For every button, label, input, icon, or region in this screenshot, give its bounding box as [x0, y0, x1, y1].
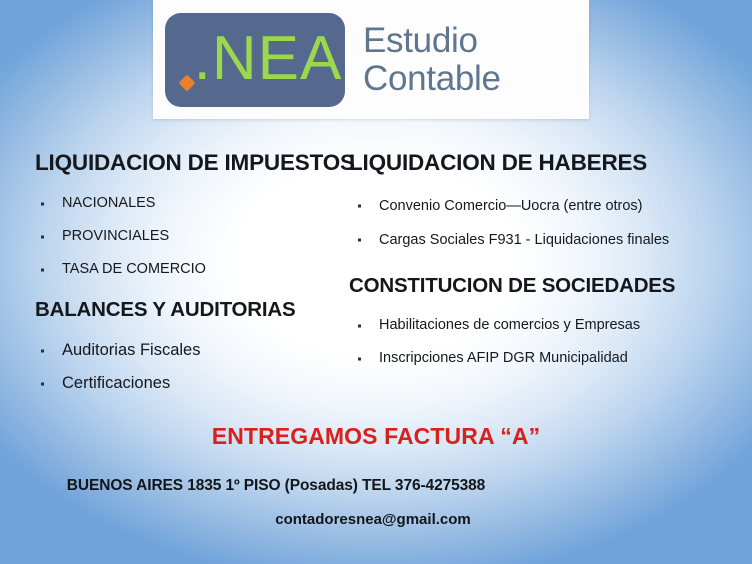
list-item-label: Convenio Comercio—Uocra (entre otros)	[379, 189, 643, 223]
list-item: NACIONALES	[30, 187, 350, 220]
list-item: Habilitaciones de comercios y Empresas	[349, 309, 739, 342]
bullet-square-icon	[358, 205, 361, 208]
list-item-label: Inscripciones AFIP DGR Municipalidad	[379, 342, 628, 375]
list-item-label: PROVINCIALES	[62, 220, 169, 253]
bullet-square-icon	[41, 382, 44, 385]
logo-word-line-1: Estudio	[363, 22, 501, 60]
list-item-label: NACIONALES	[62, 187, 155, 220]
bullet-square-icon	[358, 324, 361, 327]
section-title: LIQUIDACION DE IMPUESTOS	[35, 150, 350, 176]
list-item: Certificaciones	[30, 367, 350, 400]
poster-canvas: .NEA Estudio Contable LIQUIDACION DE IMP…	[0, 0, 752, 564]
section-title: LIQUIDACION DE HABERES	[349, 150, 739, 176]
list-item: TASA DE COMERCIO	[30, 253, 350, 286]
section-liquidacion-impuestos: LIQUIDACION DE IMPUESTOS NACIONALES PROV…	[30, 150, 350, 286]
list-item-label: Habilitaciones de comercios y Empresas	[379, 309, 640, 342]
list-item: Auditorias Fiscales	[30, 334, 350, 367]
list-item-label: TASA DE COMERCIO	[62, 253, 206, 286]
bullet-square-icon	[41, 268, 44, 271]
bullet-square-icon	[41, 349, 44, 352]
section-constitucion-sociedades: CONSTITUCION DE SOCIEDADES Habilitacione…	[349, 274, 739, 375]
list-item-label: Auditorias Fiscales	[62, 334, 200, 367]
bullet-list: Convenio Comercio—Uocra (entre otros) Ca…	[349, 189, 739, 257]
logo-word-line-2: Contable	[363, 60, 501, 98]
list-item: Inscripciones AFIP DGR Municipalidad	[349, 342, 739, 375]
bullet-list: Habilitaciones de comercios y Empresas I…	[349, 309, 739, 375]
right-column: LIQUIDACION DE HABERES Convenio Comercio…	[349, 150, 739, 375]
bullet-list: NACIONALES PROVINCIALES TASA DE COMERCIO	[30, 187, 350, 286]
list-item-label: Cargas Sociales F931 - Liquidaciones fin…	[379, 223, 669, 257]
bullet-square-icon	[358, 239, 361, 242]
logo-card: .NEA Estudio Contable	[153, 0, 589, 119]
section-title: CONSTITUCION DE SOCIEDADES	[349, 274, 739, 298]
bullet-square-icon	[41, 202, 44, 205]
email-address[interactable]: contadoresnea@gmail.com	[0, 511, 752, 528]
bullet-square-icon	[41, 235, 44, 238]
section-liquidacion-haberes: LIQUIDACION DE HABERES Convenio Comercio…	[349, 150, 739, 257]
section-balances-auditorias: BALANCES Y AUDITORIAS Auditorias Fiscale…	[30, 298, 350, 400]
left-column: LIQUIDACION DE IMPUESTOS NACIONALES PROV…	[30, 150, 350, 400]
address-line: BUENOS AIRES 1835 1º PISO (Posadas) TEL …	[0, 477, 752, 495]
list-item: PROVINCIALES	[30, 220, 350, 253]
tagline-entregamos-factura: ENTREGAMOS FACTURA “A”	[0, 423, 752, 450]
bullet-square-icon	[358, 357, 361, 360]
list-item: Cargas Sociales F931 - Liquidaciones fin…	[349, 223, 739, 257]
bullet-list: Auditorias Fiscales Certificaciones	[30, 334, 350, 400]
section-title: BALANCES Y AUDITORIAS	[35, 298, 350, 322]
logo-badge: .NEA	[165, 13, 345, 107]
list-item-label: Certificaciones	[62, 367, 170, 400]
list-item: Convenio Comercio—Uocra (entre otros)	[349, 189, 739, 223]
logo-wordmark: Estudio Contable	[363, 22, 501, 98]
